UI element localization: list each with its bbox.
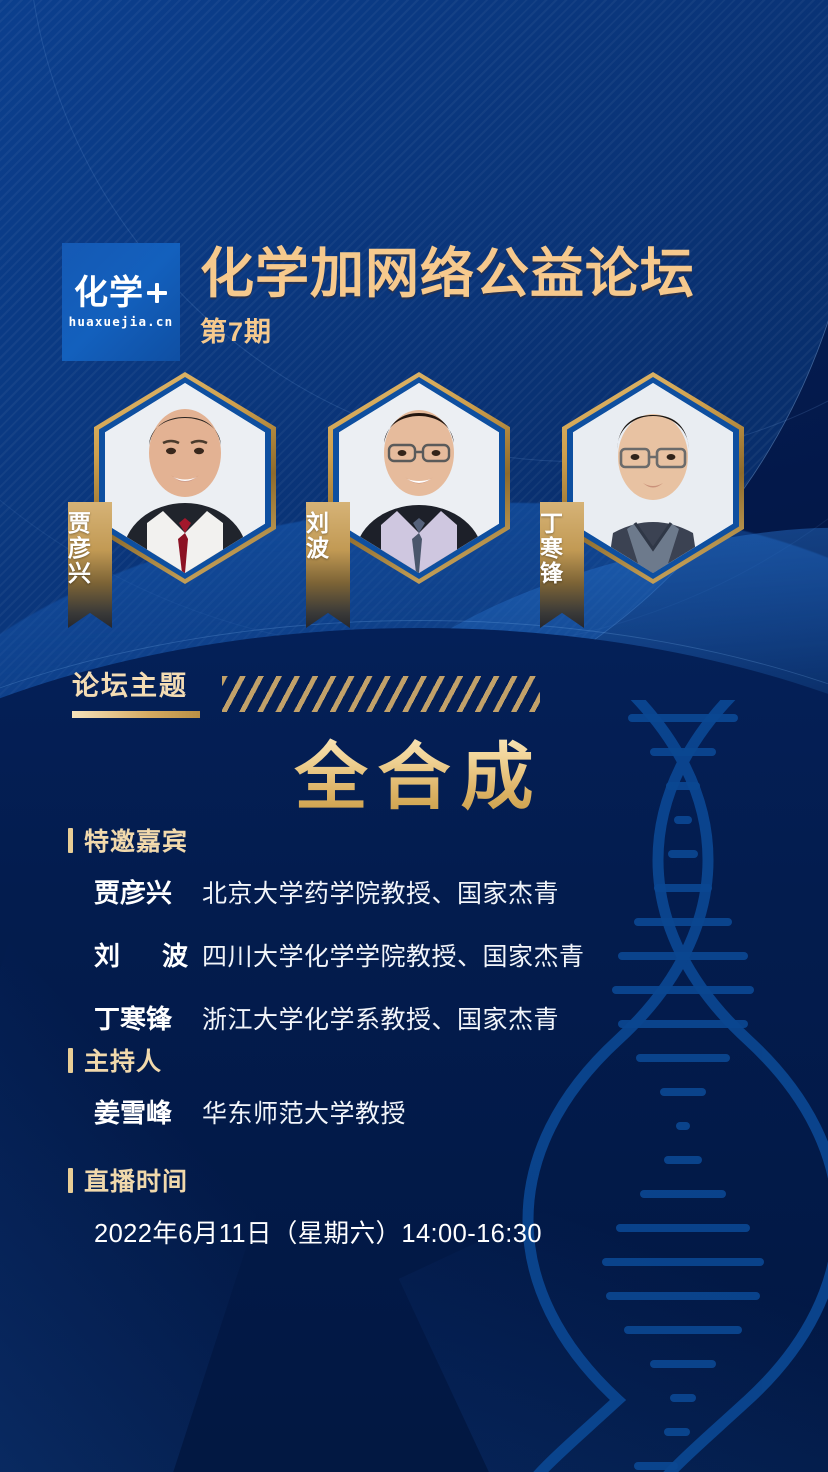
plus-icon xyxy=(146,282,168,304)
host-section-title: 主持人 xyxy=(84,1042,162,1078)
diagonal-hatch-decoration xyxy=(222,676,540,712)
guest-row: 贾彦兴 北京大学药学院教授、国家杰青 xyxy=(94,873,585,910)
guests-section-header: 特邀嘉宾 xyxy=(68,822,585,858)
hexagon-frame xyxy=(94,372,276,584)
time-section-header: 直播时间 xyxy=(68,1162,542,1198)
page-title: 化学加网络公益论坛 xyxy=(200,247,695,302)
speaker-card-3[interactable]: 丁寒锋 xyxy=(548,372,748,634)
poster-canvas: 化学 huaxuejia.cn 化学加网络公益论坛 第7期 xyxy=(0,0,828,1472)
forum-topic-title: 全合成 xyxy=(0,718,828,824)
guests-section-title: 特邀嘉宾 xyxy=(84,822,188,858)
forum-theme-header: 论坛主题 xyxy=(72,664,540,718)
host-section-header: 主持人 xyxy=(68,1042,406,1078)
nametag-char: 丁寒锋 xyxy=(540,511,584,585)
time-section: 直播时间 2022年6月11日（星期六）14:00-16:30 xyxy=(68,1162,542,1250)
section-bar-icon xyxy=(68,1168,73,1193)
nametag-char: 刘波 xyxy=(306,511,350,561)
nametag-char: 贾彦兴 xyxy=(68,511,112,585)
speaker-nametag-1: 贾彦兴 xyxy=(68,502,112,628)
speaker-nametag-3: 丁寒锋 xyxy=(540,502,584,628)
broadcast-datetime: 2022年6月11日（星期六）14:00-16:30 xyxy=(94,1213,542,1250)
logo-url-text: huaxuejia.cn xyxy=(69,314,174,329)
issue-label: 第7期 xyxy=(200,310,695,349)
speaker-card-1[interactable]: 贾彦兴 xyxy=(80,372,280,634)
guest-name: 刘 波 xyxy=(94,936,202,973)
guest-affiliation: 北京大学药学院教授、国家杰青 xyxy=(202,874,559,910)
section-bar-icon xyxy=(68,828,73,853)
logo-mark-icon: 化学 xyxy=(74,276,168,310)
hexagon-frame xyxy=(328,372,510,584)
guest-affiliation: 浙江大学化学系教授、国家杰青 xyxy=(202,1000,559,1036)
guest-name: 贾彦兴 xyxy=(94,873,202,910)
guest-name-char: 波 xyxy=(162,936,188,973)
host-affiliation: 华东师范大学教授 xyxy=(202,1094,406,1130)
speaker-card-2[interactable]: 刘波 xyxy=(314,372,514,634)
brand-logo[interactable]: 化学 huaxuejia.cn xyxy=(62,243,180,361)
host-row: 姜雪峰 华东师范大学教授 xyxy=(94,1093,406,1130)
section-bar-icon xyxy=(68,1048,73,1073)
time-section-title: 直播时间 xyxy=(84,1162,188,1198)
title-block: 化学加网络公益论坛 第7期 xyxy=(200,243,695,349)
forum-theme-label: 论坛主题 xyxy=(72,664,200,703)
guest-affiliation: 四川大学化学学院教授、国家杰青 xyxy=(202,937,585,973)
host-name: 姜雪峰 xyxy=(94,1093,202,1130)
hexagon-frame xyxy=(562,372,744,584)
host-section: 主持人 姜雪峰 华东师范大学教授 xyxy=(68,1042,406,1130)
logo-wordmark: 化学 xyxy=(74,276,144,310)
speaker-nametag-2: 刘波 xyxy=(306,502,350,628)
guest-name: 丁寒锋 xyxy=(94,999,202,1036)
guests-section: 特邀嘉宾 贾彦兴 北京大学药学院教授、国家杰青 刘 波 四川大学化学学院教授、国… xyxy=(68,822,585,1036)
guest-row: 丁寒锋 浙江大学化学系教授、国家杰青 xyxy=(94,999,585,1036)
gold-underline xyxy=(72,711,200,718)
speaker-portrait-row: 贾彦兴 xyxy=(0,372,828,642)
guest-row: 刘 波 四川大学化学学院教授、国家杰青 xyxy=(94,936,585,973)
poster-header: 化学 huaxuejia.cn 化学加网络公益论坛 第7期 xyxy=(62,243,695,361)
guest-name-char: 刘 xyxy=(94,936,120,973)
forum-theme-label-box: 论坛主题 xyxy=(72,664,200,718)
